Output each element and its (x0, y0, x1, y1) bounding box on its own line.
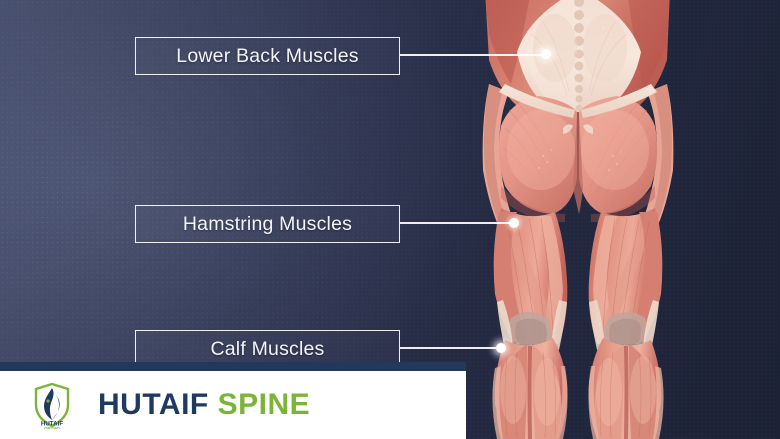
label-hamstring-muscles-text: Hamstring Muscles (183, 213, 352, 236)
leader-line-hamstring (400, 222, 514, 224)
footer-accent-bar (0, 362, 466, 371)
right-leg (588, 208, 663, 439)
label-lower-back-muscles-text: Lower Back Muscles (176, 45, 358, 68)
slide-canvas: Lower Back Muscles Hamstring Muscles Cal… (0, 0, 780, 439)
hutaif-ortho-shield-logo-icon: HUTAIF ORTHO (28, 381, 76, 429)
leader-endpoint-lower-back (541, 49, 551, 59)
label-lower-back-muscles[interactable]: Lower Back Muscles (135, 37, 400, 75)
leader-line-lower-back (400, 54, 546, 56)
anatomy-illustration (455, 0, 705, 439)
leader-endpoint-calf (496, 343, 506, 353)
label-calf-muscles-text: Calf Muscles (210, 338, 324, 361)
leader-endpoint-hamstring (509, 218, 519, 228)
brand-primary: HUTAIF (98, 388, 209, 421)
label-hamstring-muscles[interactable]: Hamstring Muscles (135, 205, 400, 243)
footer-brand-bar: HUTAIF ORTHO HUTAIF SPINE (0, 371, 466, 439)
brand-secondary: SPINE (218, 388, 311, 421)
leader-line-calf (400, 347, 501, 349)
logo-wordmark-bottom: ORTHO (44, 426, 60, 429)
left-leg (492, 208, 567, 439)
brand-wordmark: HUTAIF SPINE (98, 388, 310, 422)
